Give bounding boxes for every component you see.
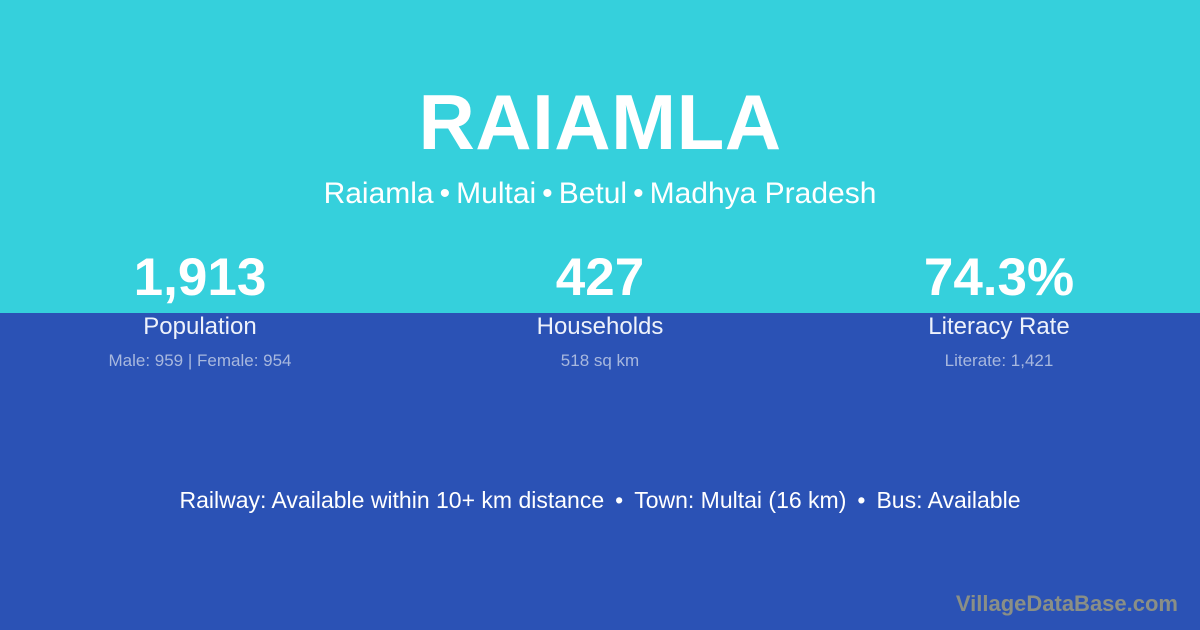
stat-households-value: 427	[400, 246, 800, 310]
breadcrumb-state: Madhya Pradesh	[650, 177, 877, 210]
stat-households-label: Households	[400, 313, 800, 341]
stat-literacy: 74.3% Literacy Rate Literate: 1,421	[800, 246, 1200, 372]
infrastructure-town: Town: Multai (16 km)	[634, 487, 846, 513]
stat-households: 427 Households 518 sq km	[400, 246, 800, 372]
breadcrumb-separator: •	[536, 177, 559, 210]
infrastructure-railway: Railway: Available within 10+ km distanc…	[179, 487, 604, 513]
infrastructure-separator: •	[604, 487, 634, 513]
village-info-card: RAIAMLA Raiamla•Multai•Betul•Madhya Prad…	[0, 0, 1200, 630]
breadcrumb-district: Betul	[559, 177, 627, 210]
stat-population-detail: Male: 959 | Female: 954	[0, 350, 400, 372]
stat-literacy-label: Literacy Rate	[799, 313, 1199, 341]
stat-households-detail: 518 sq km	[400, 350, 800, 372]
breadcrumb-separator: •	[627, 177, 650, 210]
stat-population-value: 1,913	[0, 246, 400, 310]
breadcrumb-village: Raiamla	[324, 177, 434, 210]
page-title: RAIAMLA	[0, 0, 1200, 162]
card-header: RAIAMLA Raiamla•Multai•Betul•Madhya Prad…	[0, 0, 1200, 212]
stat-population-label: Population	[0, 313, 400, 341]
infrastructure-line: Railway: Available within 10+ km distanc…	[0, 484, 1200, 516]
infrastructure-bus: Bus: Available	[876, 487, 1020, 513]
stat-literacy-detail: Literate: 1,421	[799, 350, 1199, 372]
breadcrumb-block: Multai	[456, 177, 536, 210]
breadcrumb: Raiamla•Multai•Betul•Madhya Pradesh	[0, 162, 1200, 212]
infrastructure-separator: •	[846, 487, 876, 513]
stat-literacy-value: 74.3%	[799, 246, 1199, 310]
site-watermark: VillageDataBase.com	[956, 590, 1178, 618]
stat-population: 1,913 Population Male: 959 | Female: 954	[0, 246, 400, 372]
stats-row: 1,913 Population Male: 959 | Female: 954…	[0, 246, 1200, 372]
breadcrumb-separator: •	[434, 177, 457, 210]
